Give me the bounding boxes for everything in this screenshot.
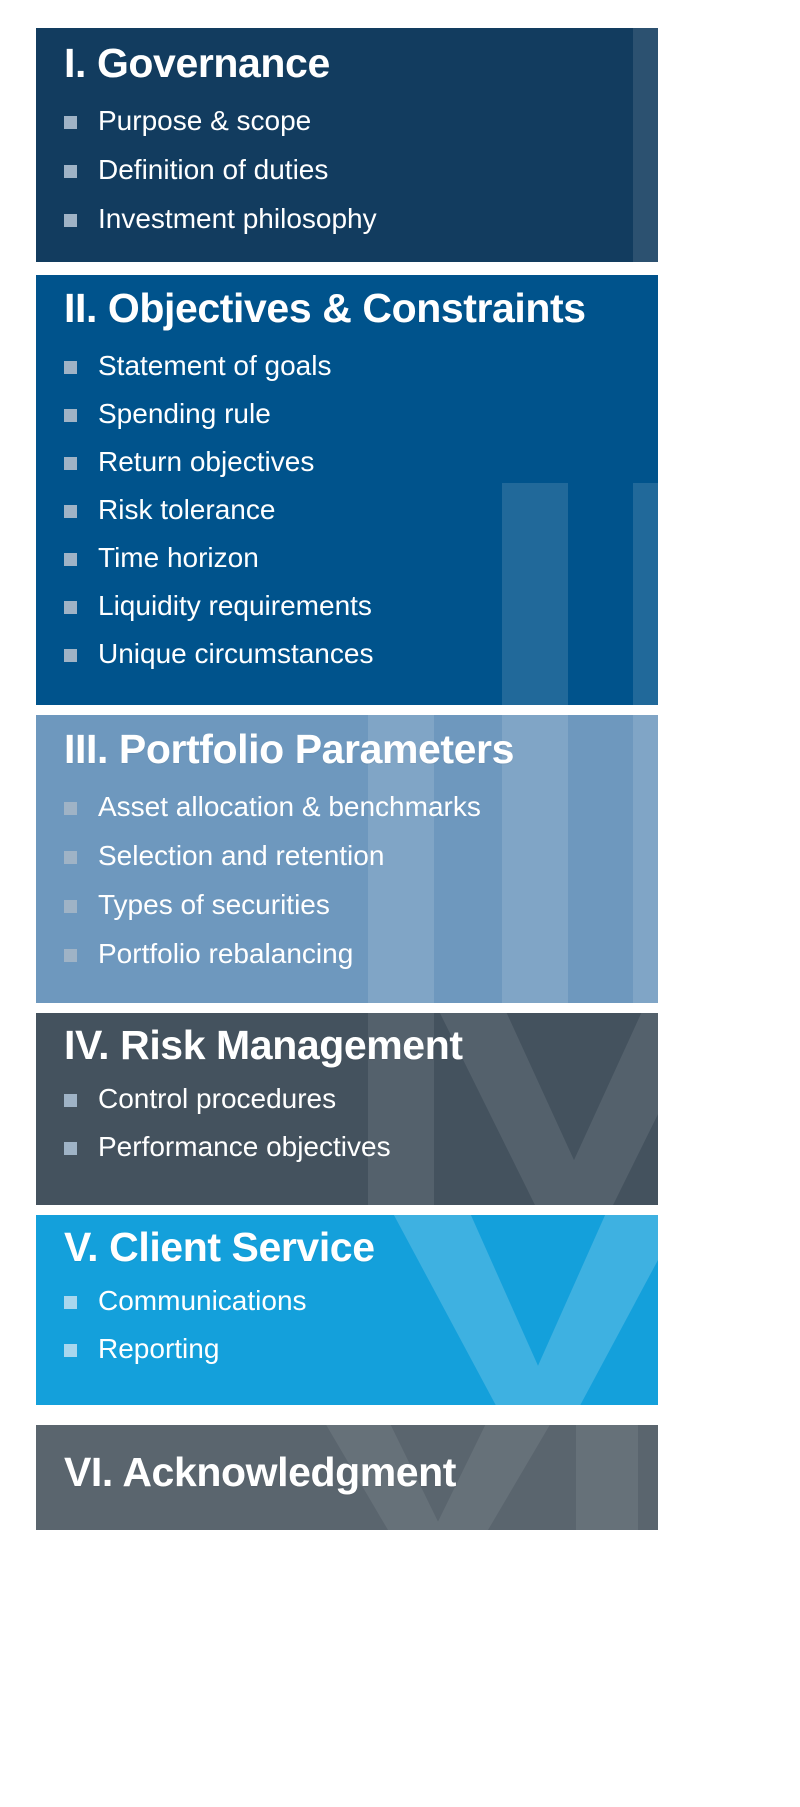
square-bullet-icon	[64, 900, 77, 913]
square-bullet-icon	[64, 165, 77, 178]
section-content: III. Portfolio Parameters Asset allocati…	[36, 715, 658, 968]
square-bullet-icon	[64, 949, 77, 962]
list-item: Purpose & scope	[64, 107, 658, 135]
section-title-acknowledgment: VI. Acknowledgment	[64, 1451, 658, 1494]
list-item: Communications	[64, 1287, 658, 1315]
list-item-label: Communications	[98, 1285, 307, 1316]
section-content: II. Objectives & Constraints Statement o…	[36, 275, 658, 668]
section-title-client-service: V. Client Service	[64, 1226, 658, 1269]
square-bullet-icon	[64, 851, 77, 864]
square-bullet-icon	[64, 505, 77, 518]
list-item: Return objectives	[64, 448, 658, 476]
section-title-risk-management: IV. Risk Management	[64, 1024, 658, 1067]
square-bullet-icon	[64, 553, 77, 566]
investment-policy-outline-infographic: I. Governance Purpose & scope Definition…	[0, 0, 800, 1807]
bullet-list-risk-management: Control procedures Performance objective…	[64, 1085, 658, 1161]
list-item-label: Selection and retention	[98, 840, 384, 871]
section-panel-client-service: V. Client Service Communications Reporti…	[36, 1215, 658, 1405]
section-panel-risk-management: IV. Risk Management Control procedures P…	[36, 1013, 658, 1205]
list-item-label: Portfolio rebalancing	[98, 938, 353, 969]
square-bullet-icon	[64, 601, 77, 614]
section-title-objectives-constraints: II. Objectives & Constraints	[64, 287, 658, 330]
section-panel-acknowledgment: VI. Acknowledgment	[36, 1425, 658, 1530]
list-item: Unique circumstances	[64, 640, 658, 668]
list-item: Selection and retention	[64, 842, 658, 870]
section-content: V. Client Service Communications Reporti…	[36, 1215, 658, 1363]
list-item: Spending rule	[64, 400, 658, 428]
section-panel-governance: I. Governance Purpose & scope Definition…	[36, 28, 658, 262]
bullet-list-objectives-constraints: Statement of goals Spending rule Return …	[64, 352, 658, 668]
square-bullet-icon	[64, 1142, 77, 1155]
list-item-label: Statement of goals	[98, 350, 331, 381]
square-bullet-icon	[64, 457, 77, 470]
list-item: Performance objectives	[64, 1133, 658, 1161]
section-content: IV. Risk Management Control procedures P…	[36, 1013, 658, 1161]
list-item: Risk tolerance	[64, 496, 658, 524]
list-item-label: Unique circumstances	[98, 638, 373, 669]
list-item-label: Reporting	[98, 1333, 219, 1364]
square-bullet-icon	[64, 802, 77, 815]
list-item: Liquidity requirements	[64, 592, 658, 620]
list-item: Statement of goals	[64, 352, 658, 380]
square-bullet-icon	[64, 1296, 77, 1309]
list-item-label: Definition of duties	[98, 154, 328, 185]
list-item-label: Control procedures	[98, 1083, 336, 1114]
section-title-portfolio-parameters: III. Portfolio Parameters	[64, 728, 658, 771]
list-item: Investment philosophy	[64, 205, 658, 233]
list-item: Control procedures	[64, 1085, 658, 1113]
list-item-label: Types of securities	[98, 889, 330, 920]
list-item-label: Purpose & scope	[98, 105, 311, 136]
list-item-label: Liquidity requirements	[98, 590, 372, 621]
list-item-label: Spending rule	[98, 398, 271, 429]
list-item-label: Return objectives	[98, 446, 314, 477]
square-bullet-icon	[64, 1094, 77, 1107]
list-item: Types of securities	[64, 891, 658, 919]
bullet-list-governance: Purpose & scope Definition of duties Inv…	[64, 107, 658, 233]
bullet-list-portfolio-parameters: Asset allocation & benchmarks Selection …	[64, 793, 658, 968]
section-panel-portfolio-parameters: III. Portfolio Parameters Asset allocati…	[36, 715, 658, 1003]
section-content: VI. Acknowledgment	[36, 1425, 658, 1494]
square-bullet-icon	[64, 361, 77, 374]
square-bullet-icon	[64, 214, 77, 227]
list-item: Time horizon	[64, 544, 658, 572]
square-bullet-icon	[64, 1344, 77, 1357]
section-panel-objectives-constraints: II. Objectives & Constraints Statement o…	[36, 275, 658, 705]
list-item-label: Time horizon	[98, 542, 259, 573]
list-item: Portfolio rebalancing	[64, 940, 658, 968]
list-item-label: Investment philosophy	[98, 203, 377, 234]
section-title-governance: I. Governance	[64, 42, 658, 85]
list-item-label: Risk tolerance	[98, 494, 275, 525]
section-content: I. Governance Purpose & scope Definition…	[36, 28, 658, 233]
bullet-list-client-service: Communications Reporting	[64, 1287, 658, 1363]
square-bullet-icon	[64, 116, 77, 129]
square-bullet-icon	[64, 649, 77, 662]
square-bullet-icon	[64, 409, 77, 422]
list-item-label: Asset allocation & benchmarks	[98, 791, 481, 822]
list-item: Reporting	[64, 1335, 658, 1363]
list-item: Definition of duties	[64, 156, 658, 184]
list-item-label: Performance objectives	[98, 1131, 391, 1162]
list-item: Asset allocation & benchmarks	[64, 793, 658, 821]
